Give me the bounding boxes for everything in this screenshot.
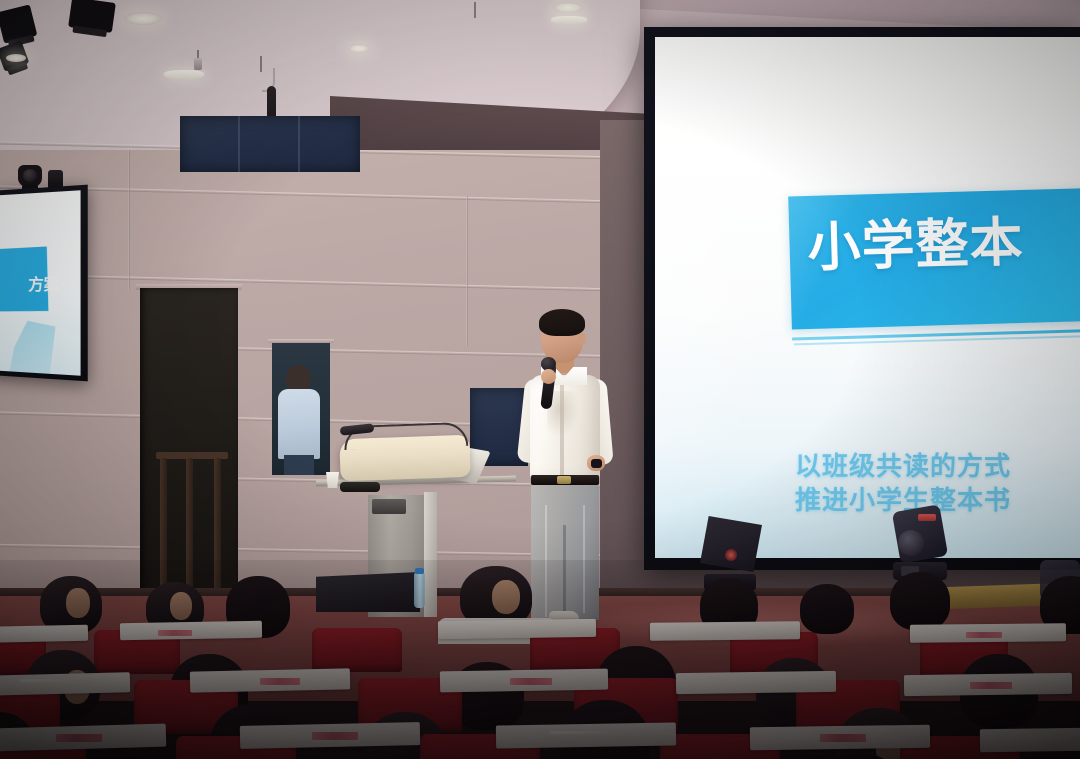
presenter-hand-holding-mic [541, 369, 556, 384]
left-side-monitor: 方案 [0, 185, 88, 382]
audience-head [890, 572, 950, 630]
sprinkler-head-icon [194, 58, 202, 70]
audience-face [170, 592, 192, 620]
tray-printed-label [510, 678, 552, 685]
ptz-camera-icon [18, 165, 42, 187]
truss-spotlight-icon [68, 0, 116, 33]
presenter-ear [578, 333, 586, 345]
acoustic-panel [180, 116, 360, 172]
tray-highlight [550, 731, 608, 734]
recessed-downlight-icon [348, 44, 370, 53]
seated-audience [0, 560, 1080, 759]
tray-printed-label [820, 734, 866, 742]
background-person-body [278, 389, 320, 459]
slide-subtitle: 以班级共读的方式 推进小学生整本书 [795, 450, 1011, 519]
moving-head-lens-icon [898, 530, 924, 556]
seat-tray-table [650, 621, 800, 641]
strip-light-icon [164, 70, 204, 79]
tray-printed-label [56, 734, 102, 742]
side-monitor-text: 方案 [28, 271, 59, 295]
seat-tray-table [496, 722, 676, 748]
recessed-downlight-icon [124, 12, 162, 25]
tray-printed-label [970, 682, 1012, 689]
wall-panel-seam [0, 185, 700, 205]
paper-cup-icon [326, 472, 339, 488]
wall-panel-seam [0, 273, 700, 293]
presentation-hall-photo: 方案 小学整本 以班级共读的方式 推进小学生整本书 [0, 0, 1080, 759]
seat-tray-table [980, 727, 1080, 753]
tray-printed-label [260, 678, 300, 685]
background-person-head [286, 365, 311, 392]
seat-tray-table [676, 671, 836, 694]
seat-tray-table [438, 619, 596, 639]
theater-seat [312, 628, 402, 672]
presentation-clicker-icon [591, 459, 602, 468]
wall-panel-seam [128, 150, 130, 290]
slide-title-text: 小学整本 [807, 216, 1024, 275]
seat-tray-table [0, 672, 130, 696]
truss-lamp-glow-icon [6, 54, 26, 62]
audience-head [800, 584, 854, 634]
projection-surface: 小学整本 以班级共读的方式 推进小学生整本书 [655, 37, 1080, 558]
tray-highlight [20, 679, 66, 682]
tray-printed-label [966, 632, 1002, 638]
lectern-equipment [340, 482, 380, 492]
strip-light-icon [551, 16, 587, 24]
wall-panel-seam [466, 196, 468, 346]
slide-title-banner: 小学整本 [788, 188, 1080, 330]
belt-buckle [557, 476, 571, 484]
side-monitor-graphic [8, 320, 56, 375]
presenter-hair [539, 309, 585, 336]
background-person-legs [284, 455, 314, 475]
left-side-monitor-surface: 方案 [0, 190, 81, 375]
tray-printed-label [312, 732, 358, 740]
slide-subtitle-line1: 以班级共读的方式 [795, 450, 1011, 484]
lectern-control-plate [372, 499, 406, 514]
recessed-downlight-icon [553, 2, 583, 13]
tray-printed-label [158, 630, 192, 636]
seat-tray-table [0, 625, 88, 644]
moving-head-brand-badge [918, 514, 936, 521]
main-projection-screen: 小学整本 以班级共读的方式 推进小学生整本书 [644, 27, 1080, 570]
ceiling-rod [474, 2, 476, 18]
recessed-alcove [272, 343, 330, 475]
audience-face [66, 588, 90, 618]
audience-face [492, 580, 520, 614]
